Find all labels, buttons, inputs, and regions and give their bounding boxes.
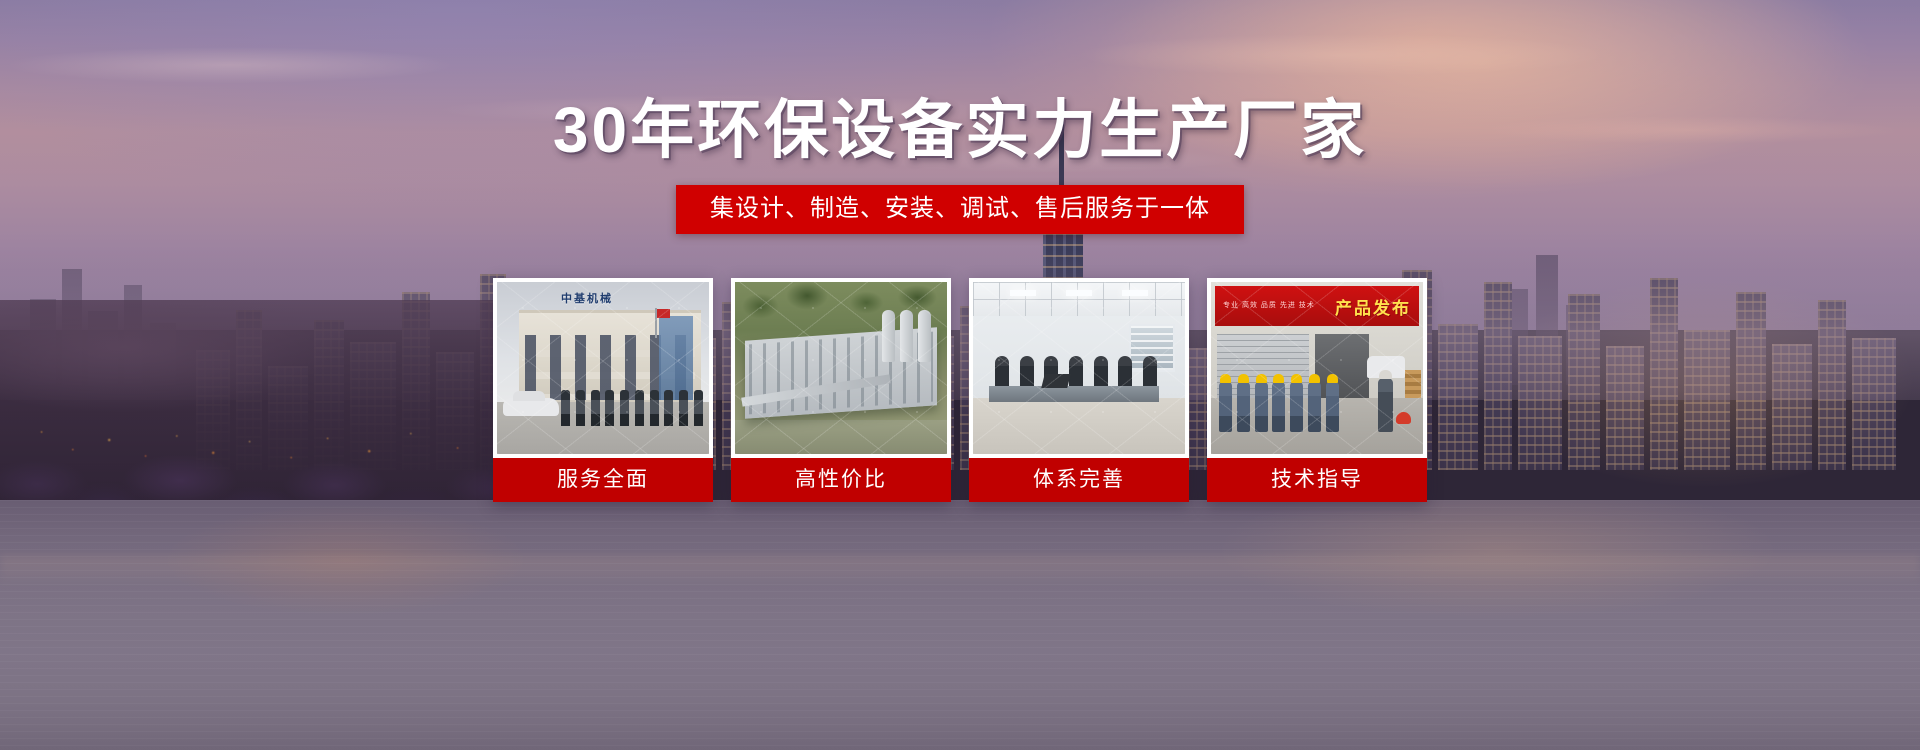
card-photo-workshop-workers: 专业 高效 品质 先进 技术 产品发布 xyxy=(1211,282,1423,454)
hero-banner: 30年环保设备实力生产厂家 集设计、制造、安装、调试、售后服务于一体 中基机械 xyxy=(0,0,1920,750)
card-photo-office-building: 中基机械 xyxy=(497,282,709,454)
banner-content: 30年环保设备实力生产厂家 集设计、制造、安装、调试、售后服务于一体 中基机械 xyxy=(0,0,1920,750)
card-label: 高性价比 xyxy=(731,458,951,502)
feature-card[interactable]: 高性价比 xyxy=(731,278,951,502)
feature-card[interactable]: 体系完善 xyxy=(969,278,1189,502)
card-label: 服务全面 xyxy=(493,458,713,502)
workshop-banner-text: 产品发布 xyxy=(1335,294,1411,319)
banner-subtitle: 集设计、制造、安装、调试、售后服务于一体 xyxy=(676,185,1244,234)
workshop-banner: 专业 高效 品质 先进 技术 产品发布 xyxy=(1215,286,1419,326)
red-helmet-icon xyxy=(1396,412,1411,424)
building-signage: 中基机械 xyxy=(561,290,613,306)
feature-card[interactable]: 专业 高效 品质 先进 技术 产品发布 技术指导 xyxy=(1207,278,1427,502)
feature-card[interactable]: 中基机械 服务全面 xyxy=(493,278,713,502)
card-label: 技术指导 xyxy=(1207,458,1427,502)
banner-headline: 30年环保设备实力生产厂家 xyxy=(553,98,1367,162)
workshop-banner-small: 专业 高效 品质 先进 技术 xyxy=(1223,301,1315,311)
card-photo-office-meeting xyxy=(973,282,1185,454)
feature-card-list: 中基机械 服务全面 xyxy=(493,278,1427,502)
card-photo-industrial-plant xyxy=(735,282,947,454)
card-label: 体系完善 xyxy=(969,458,1189,502)
